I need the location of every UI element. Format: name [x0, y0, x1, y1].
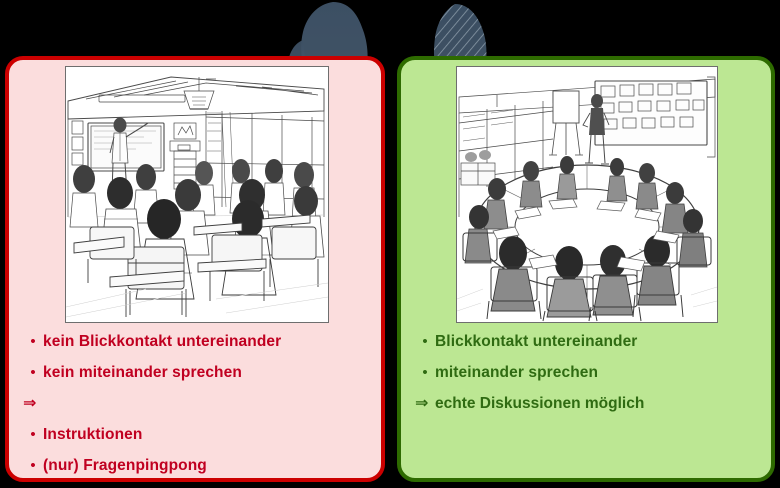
- bullet-marker-icon: •: [23, 332, 43, 352]
- double-arrow-icon: ⇒: [23, 394, 43, 414]
- left-bullet-list: • kein Blickkontakt untereinander • kein…: [9, 332, 381, 487]
- seminar-circle-sketch: [456, 66, 718, 323]
- bullet-marker-icon: •: [23, 456, 43, 476]
- bullet-text: Blickkontakt untereinander: [435, 332, 637, 352]
- right-bullet-list: • Blickkontakt untereinander • miteinand…: [401, 332, 771, 425]
- right-panel-circle-seminar: • Blickkontakt untereinander • miteinand…: [397, 56, 775, 482]
- left-panel-traditional-classroom: • kein Blickkontakt untereinander • kein…: [5, 56, 385, 482]
- bullet-text: kein Blickkontakt untereinander: [43, 332, 281, 352]
- list-item: • (nur) Fragenpingpong: [23, 456, 367, 476]
- bullet-text: miteinander sprechen: [435, 363, 598, 383]
- bullet-text: (nur) Fragenpingpong: [43, 456, 207, 476]
- implication-row: ⇒: [23, 394, 367, 414]
- implication-row: ⇒ echte Diskussionen möglich: [415, 394, 757, 414]
- list-item: • Instruktionen: [23, 425, 367, 445]
- list-item: • kein miteinander sprechen: [23, 363, 367, 383]
- list-item: • kein Blickkontakt untereinander: [23, 332, 367, 352]
- slide-canvas: • kein Blickkontakt untereinander • kein…: [0, 0, 780, 488]
- bullet-marker-icon: •: [23, 425, 43, 445]
- bullet-marker-icon: •: [415, 363, 435, 383]
- bullet-text: Instruktionen: [43, 425, 142, 445]
- bullet-text: kein miteinander sprechen: [43, 363, 242, 383]
- bullet-marker-icon: •: [415, 332, 435, 352]
- double-arrow-icon: ⇒: [415, 394, 435, 414]
- list-item: • Blickkontakt untereinander: [415, 332, 757, 352]
- list-item: • miteinander sprechen: [415, 363, 757, 383]
- classroom-rows-sketch: [65, 66, 329, 323]
- bullet-marker-icon: •: [23, 363, 43, 383]
- implication-text: echte Diskussionen möglich: [435, 394, 644, 414]
